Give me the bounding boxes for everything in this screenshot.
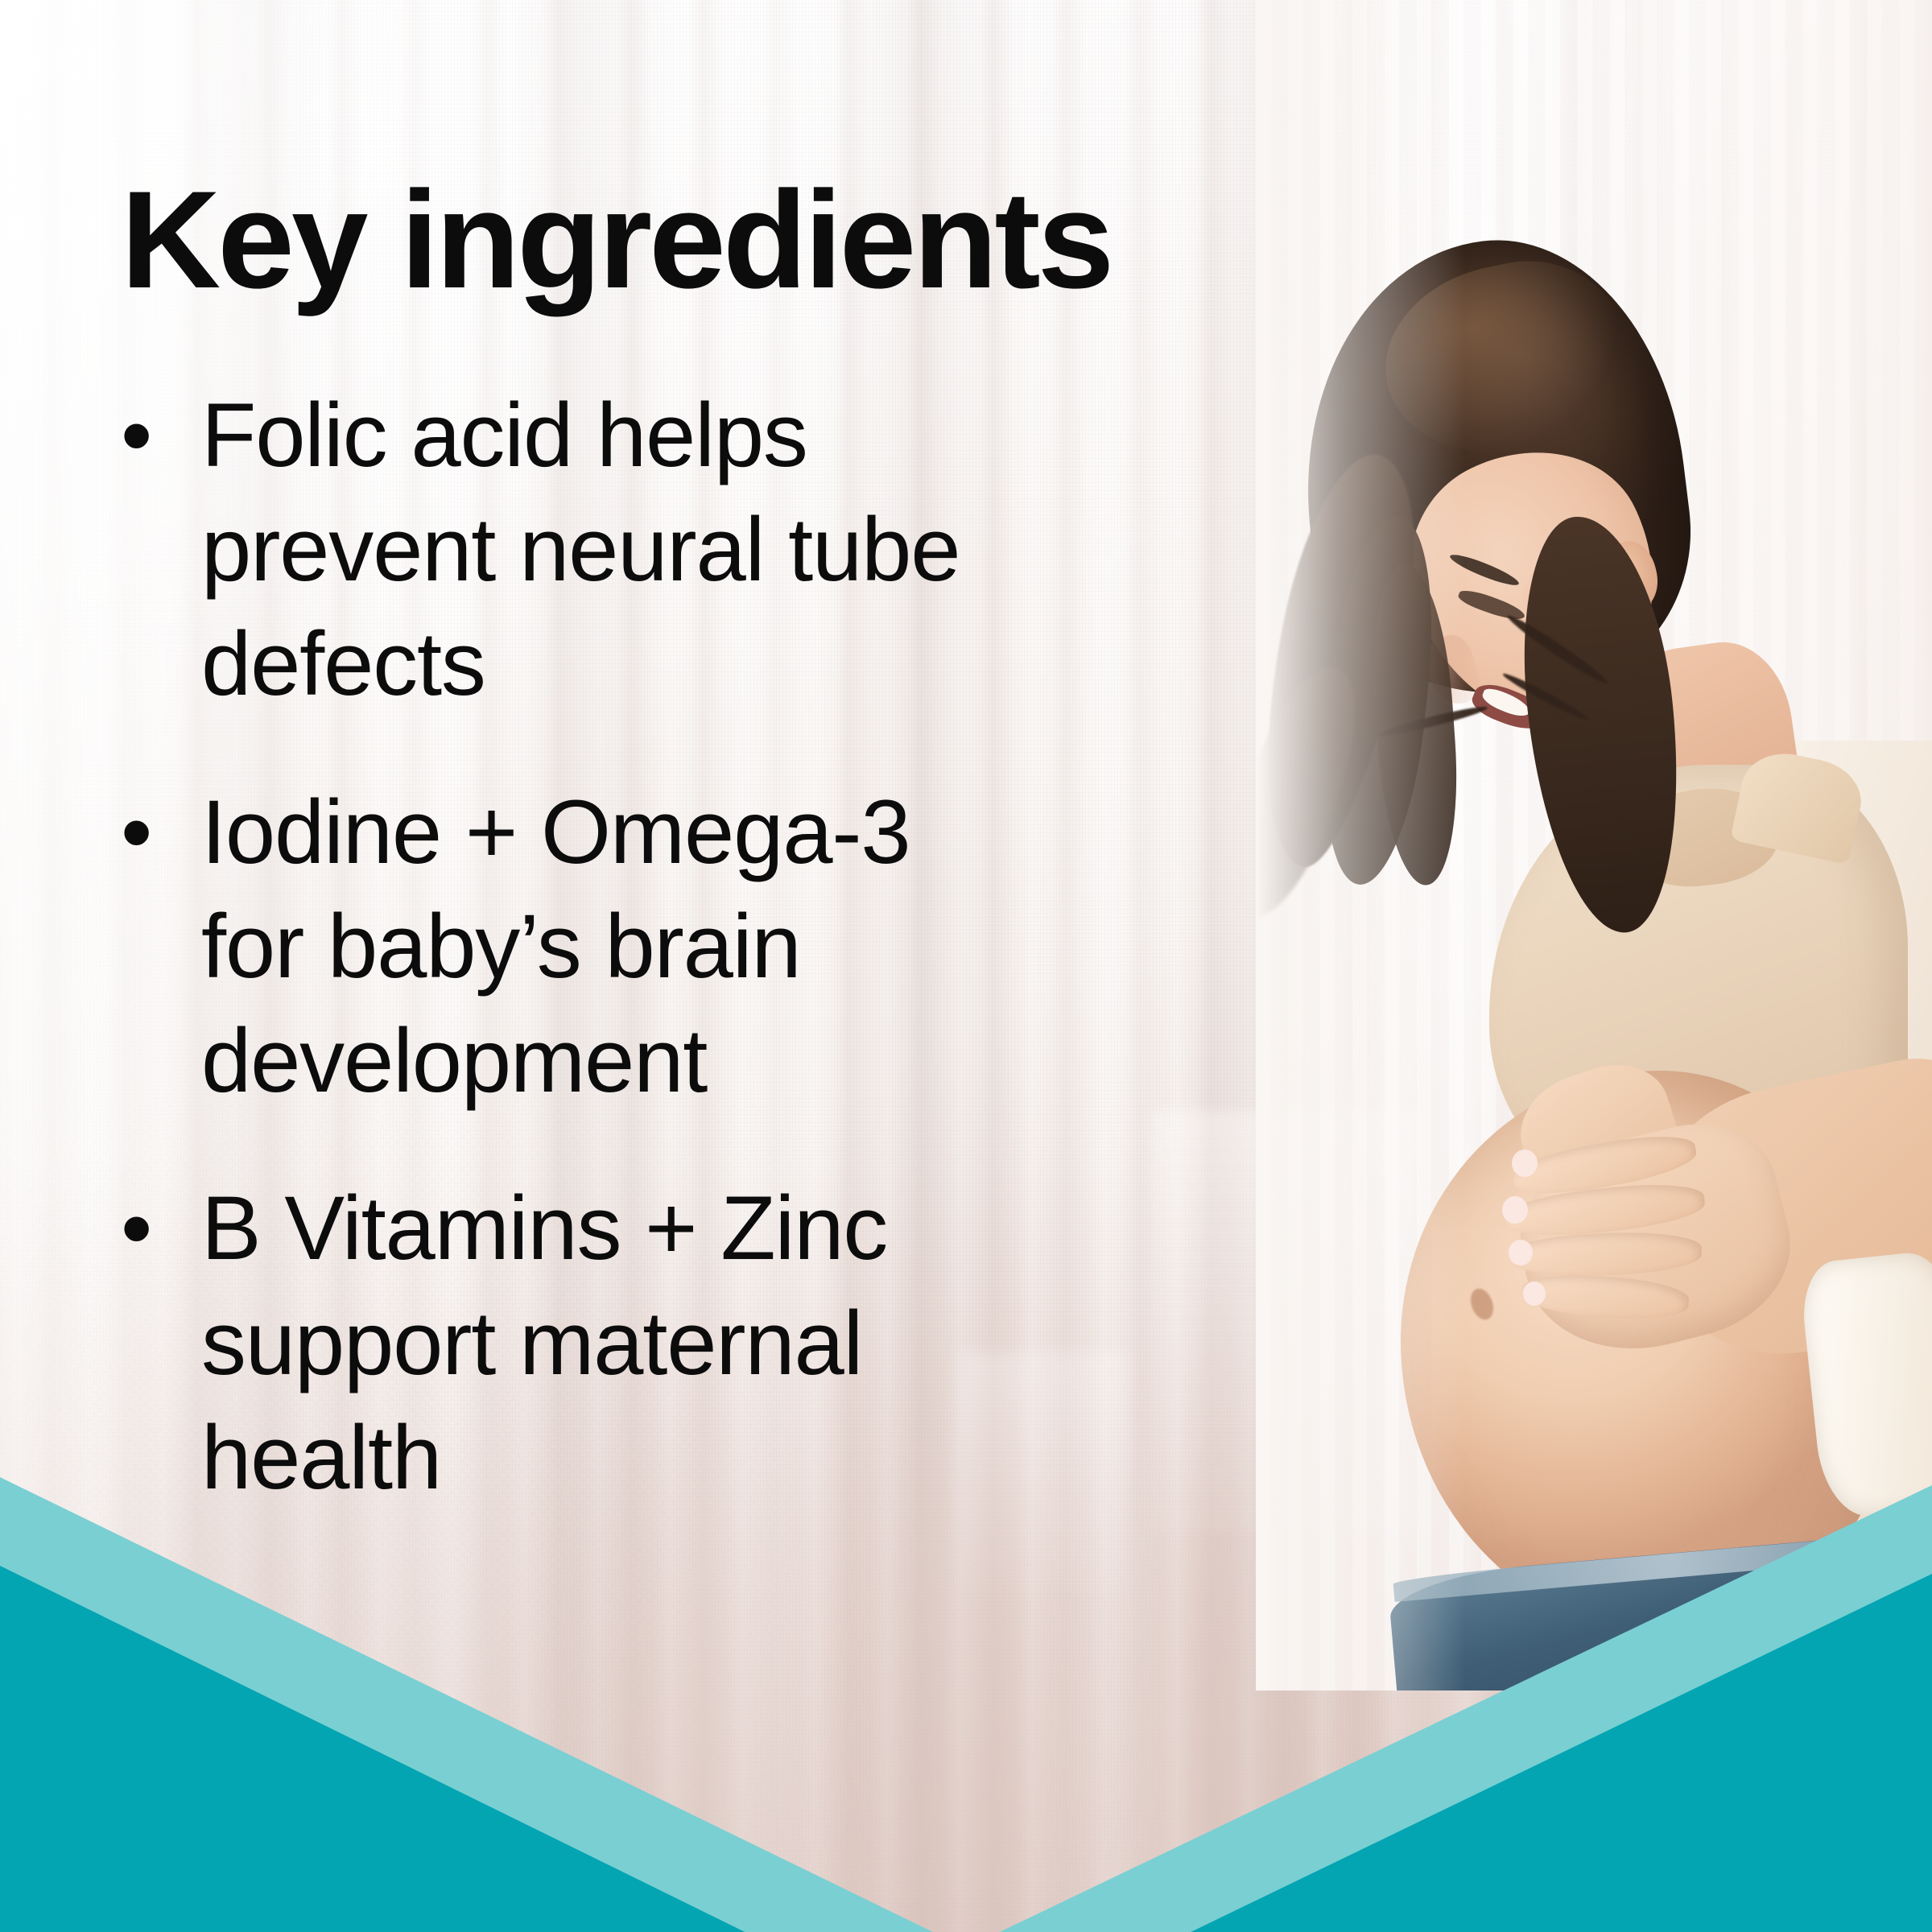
- bullet-dot-icon: •: [121, 378, 201, 492]
- list-item: • Iodine + Omega-3 for baby’s brain deve…: [121, 775, 998, 1119]
- page-title: Key ingredients: [121, 170, 1111, 311]
- fingernail: [1502, 1196, 1528, 1224]
- key-ingredients-list: • Folic acid helps prevent neural tube d…: [121, 378, 998, 1568]
- chevron-shapes: [0, 1433, 1932, 1932]
- fingernail: [1509, 1240, 1533, 1265]
- fingernail: [1512, 1150, 1538, 1177]
- bottom-chevron-banner: [0, 1433, 1932, 1932]
- key-ingredients-slide: Key ingredients • Folic acid helps preve…: [0, 0, 1932, 1932]
- list-item-label: Iodine + Omega-3 for baby’s brain develo…: [201, 775, 998, 1119]
- list-item: • Folic acid helps prevent neural tube d…: [121, 378, 998, 722]
- bullet-dot-icon: •: [121, 775, 201, 889]
- bullet-dot-icon: •: [121, 1171, 201, 1285]
- fingernail: [1523, 1282, 1546, 1306]
- list-item-label: Folic acid helps prevent neural tube def…: [201, 378, 998, 722]
